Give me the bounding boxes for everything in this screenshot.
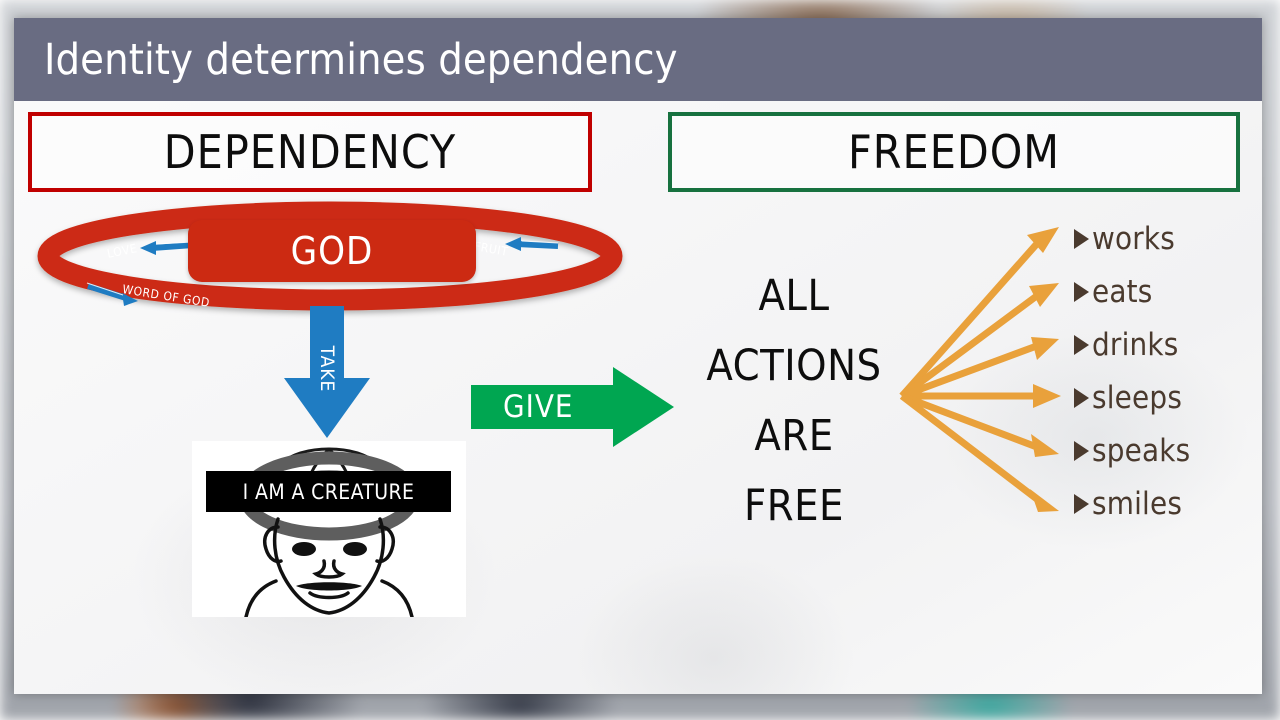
creature-banner-text: I AM A CREATURE: [243, 480, 415, 504]
action-label: smiles: [1092, 486, 1182, 522]
list-item: works: [1074, 212, 1262, 265]
freedom-statement-line: FREE: [686, 471, 902, 541]
take-arrow: TAKE: [282, 306, 372, 442]
god-cycle-diagram: LOVE FRUIT WORD OF GOD GOD: [30, 194, 630, 319]
slide-canvas: Identity determines dependency DEPENDENC…: [14, 18, 1262, 694]
triangle-bullet-icon: [1074, 229, 1089, 249]
page-title: Identity determines dependency: [44, 35, 678, 85]
creature-image: I AM A CREATURE: [192, 441, 466, 617]
action-label: speaks: [1092, 433, 1190, 469]
freedom-statement-line: ACTIONS: [686, 331, 902, 401]
list-item: eats: [1074, 265, 1262, 318]
god-plate: GOD: [188, 220, 476, 282]
triangle-bullet-icon: [1074, 388, 1089, 408]
list-item: sleeps: [1074, 371, 1262, 424]
action-label: works: [1092, 221, 1175, 257]
god-label: GOD: [291, 229, 374, 273]
take-arrow-label: TAKE: [316, 346, 338, 393]
face-line-art-icon: [192, 441, 466, 617]
give-arrow-label: GIVE: [503, 389, 574, 425]
action-label: sleeps: [1092, 380, 1182, 416]
triangle-bullet-icon: [1074, 282, 1089, 302]
freedom-statement-line: ALL: [686, 261, 902, 331]
triangle-bullet-icon: [1074, 335, 1089, 355]
triangle-bullet-icon: [1074, 441, 1089, 461]
freedom-header-label: FREEDOM: [848, 125, 1060, 179]
slide-title-bar: Identity determines dependency: [14, 18, 1262, 101]
list-item: drinks: [1074, 318, 1262, 371]
list-item: smiles: [1074, 477, 1262, 530]
triangle-bullet-icon: [1074, 494, 1089, 514]
freedom-statement: ALL ACTIONS ARE FREE: [686, 261, 902, 541]
dependency-header-box: DEPENDENCY: [28, 112, 592, 192]
action-list: works eats drinks sleeps speaks smiles: [1074, 212, 1262, 530]
action-label: eats: [1092, 274, 1153, 310]
list-item: speaks: [1074, 424, 1262, 477]
freedom-statement-line: ARE: [686, 401, 902, 471]
action-label: drinks: [1092, 327, 1178, 363]
action-fan-arrows: [894, 213, 1074, 533]
creature-banner: I AM A CREATURE: [206, 471, 451, 512]
freedom-header-box: FREEDOM: [668, 112, 1240, 192]
dependency-header-label: DEPENDENCY: [164, 125, 456, 179]
give-arrow: GIVE: [471, 367, 676, 447]
